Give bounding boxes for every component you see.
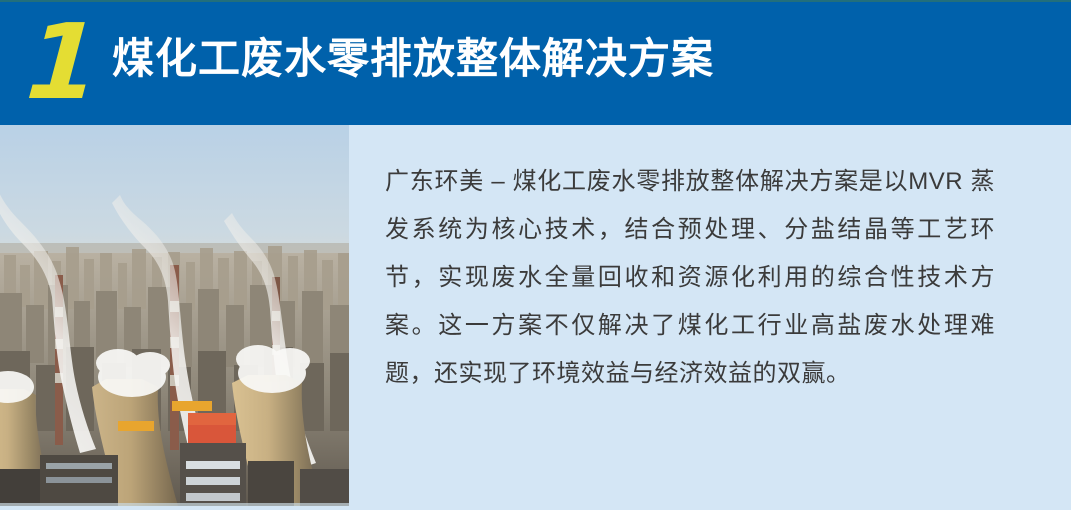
header-top-divider <box>0 0 1071 2</box>
industrial-city-photo <box>0 125 349 506</box>
page-title: 煤化工废水零排放整体解决方案 <box>112 31 714 87</box>
slide-root: 1 煤化工废水零排放整体解决方案 <box>0 0 1071 510</box>
header-bar: 1 煤化工废水零排放整体解决方案 <box>0 0 1071 125</box>
section-number-badge: 1 <box>23 10 101 114</box>
content-area: 广东环美 – 煤化工废水零排放整体解决方案是以MVR 蒸发系统为核心技术，结合预… <box>0 125 1071 510</box>
photo-illustration <box>0 125 349 506</box>
description-paragraph: 广东环美 – 煤化工废水零排放整体解决方案是以MVR 蒸发系统为核心技术，结合预… <box>385 158 995 398</box>
